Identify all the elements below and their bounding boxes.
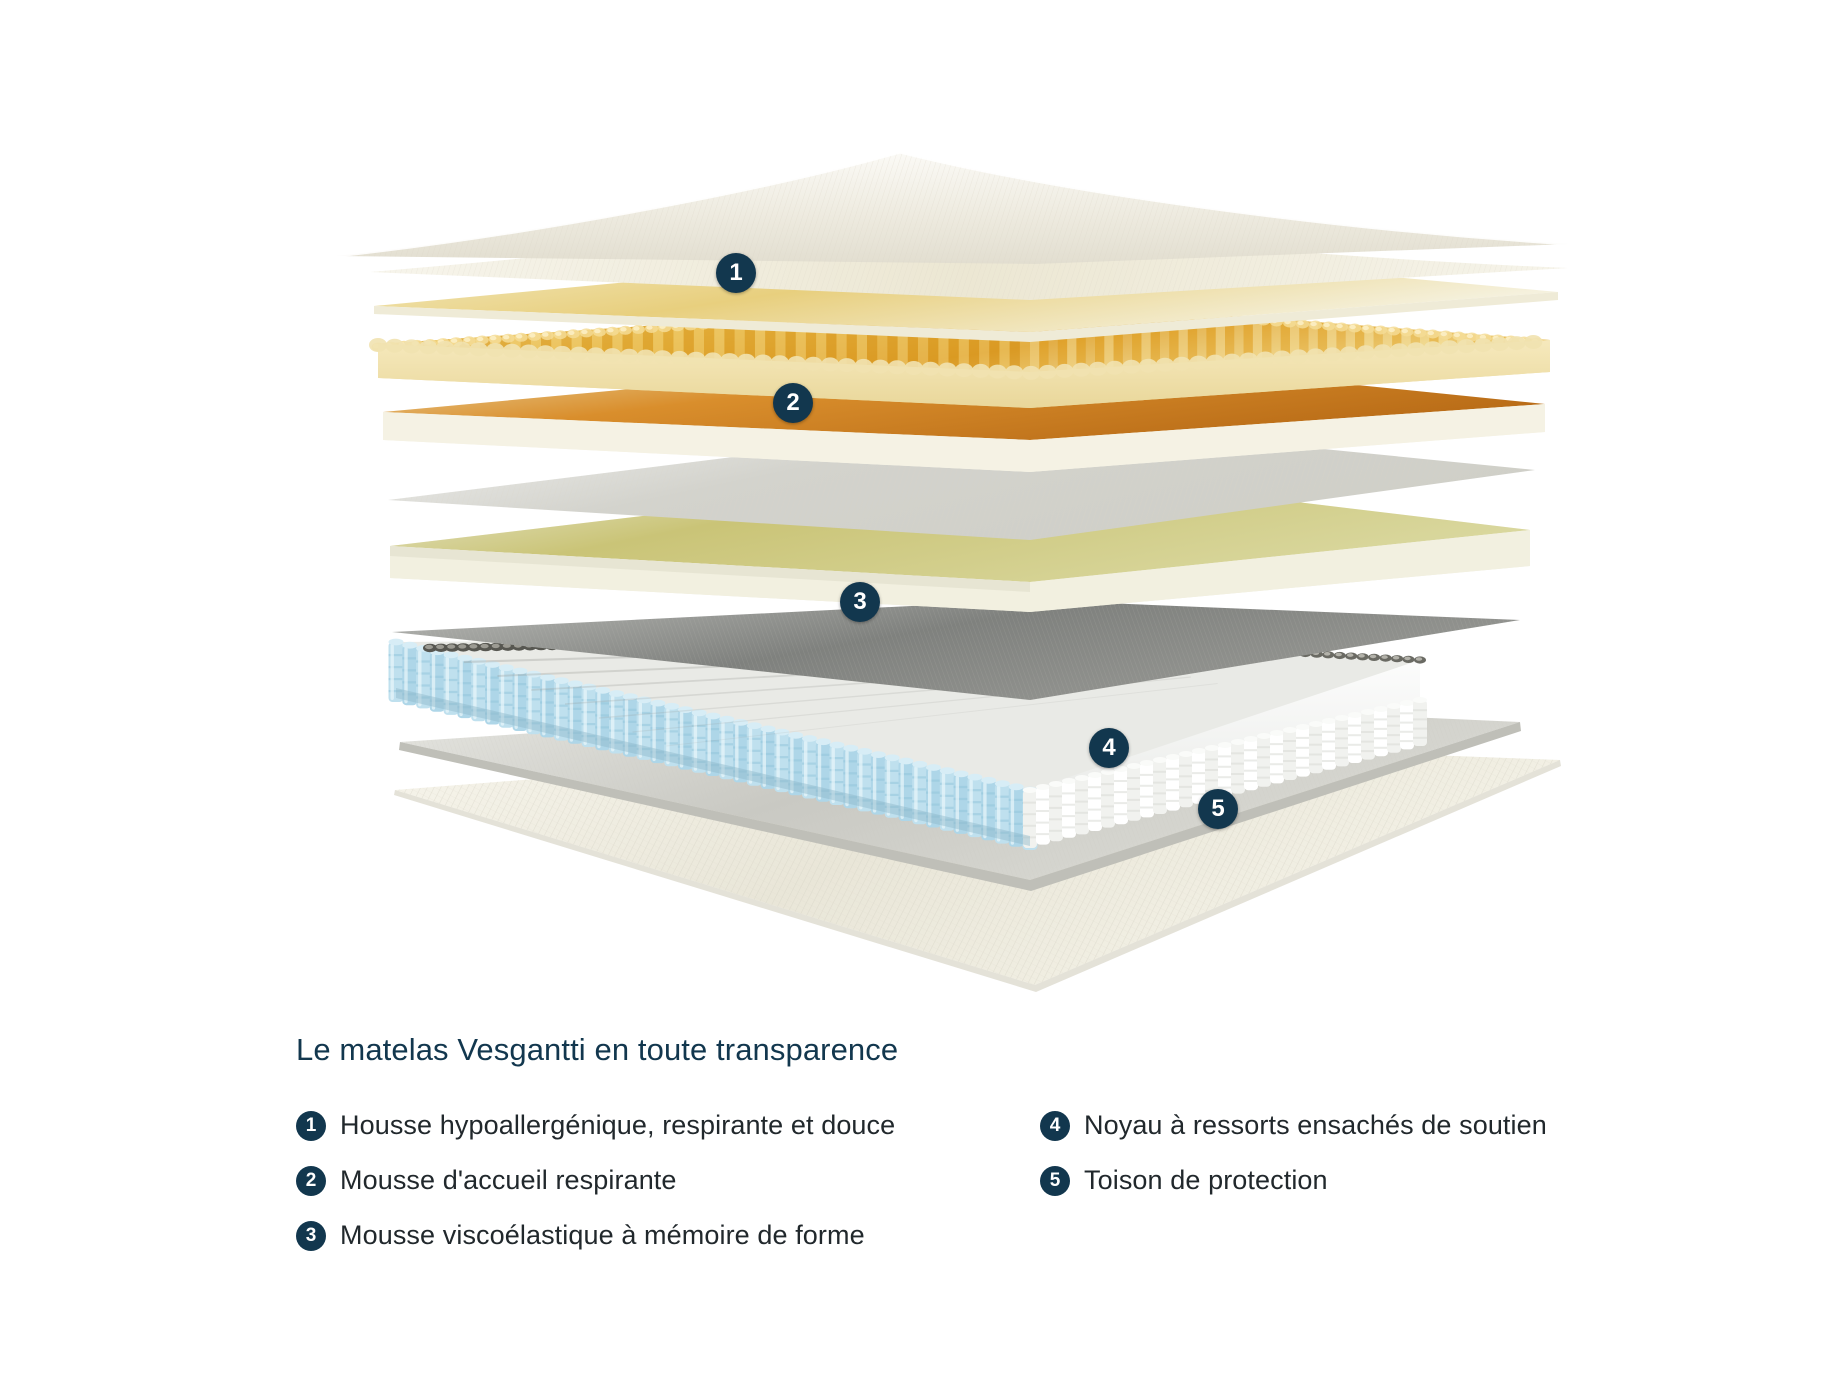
legend-badge-5: 5: [1040, 1166, 1070, 1196]
mattress-infographic: 1 2 3 4 5 Le matelas Vesgantti en toute …: [0, 0, 1848, 1386]
caption-block: Le matelas Vesgantti en toute transparen…: [0, 1010, 1848, 1386]
legend-label-4: Noyau à ressorts ensachés de soutien: [1084, 1110, 1547, 1141]
diagram-marker-5[interactable]: 5: [1198, 789, 1238, 829]
legend-item-3: 3 Mousse viscoélastique à mémoire de for…: [296, 1220, 895, 1251]
legend-label-3: Mousse viscoélastique à mémoire de forme: [340, 1220, 865, 1251]
legend-badge-4: 4: [1040, 1111, 1070, 1141]
legend-item-2: 2 Mousse d'accueil respirante: [296, 1165, 895, 1196]
legend-item-5: 5 Toison de protection: [1040, 1165, 1547, 1196]
legend-label-2: Mousse d'accueil respirante: [340, 1165, 677, 1196]
legend-label-1: Housse hypoallergénique, respirante et d…: [340, 1110, 895, 1141]
legend-badge-1: 1: [296, 1111, 326, 1141]
legend-badge-2: 2: [296, 1166, 326, 1196]
legend-item-4: 4 Noyau à ressorts ensachés de soutien: [1040, 1110, 1547, 1141]
exploded-mattress-diagram: [0, 0, 1848, 1010]
diagram-marker-3[interactable]: 3: [840, 582, 880, 622]
legend-column-right: 4 Noyau à ressorts ensachés de soutien 5…: [1040, 1110, 1547, 1220]
diagram-marker-1[interactable]: 1: [716, 253, 756, 293]
legend-column-left: 1 Housse hypoallergénique, respirante et…: [296, 1110, 895, 1275]
legend-badge-3: 3: [296, 1221, 326, 1251]
legend-label-5: Toison de protection: [1084, 1165, 1328, 1196]
legend-item-1: 1 Housse hypoallergénique, respirante et…: [296, 1110, 895, 1141]
diagram-marker-4[interactable]: 4: [1089, 728, 1129, 768]
page-title: Le matelas Vesgantti en toute transparen…: [296, 1032, 898, 1068]
layer-cover-fabric: [336, 152, 1570, 300]
diagram-marker-2[interactable]: 2: [773, 383, 813, 423]
